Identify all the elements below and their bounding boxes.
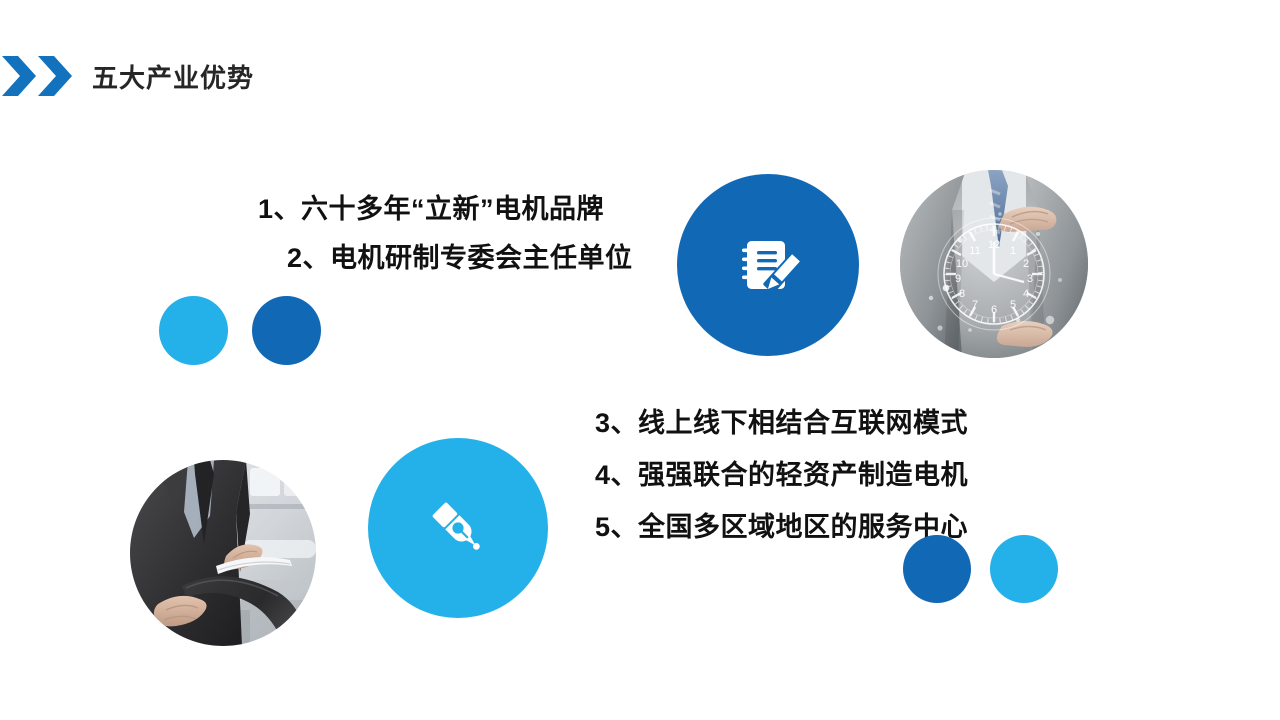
svg-text:1: 1 xyxy=(1010,245,1016,257)
businessman-documents-photo xyxy=(130,460,316,646)
decor-dot-bottom-right-light xyxy=(990,535,1058,603)
list-item: 4、强强联合的轻资产制造电机 xyxy=(595,462,968,489)
svg-text:11: 11 xyxy=(969,245,980,257)
svg-text:5: 5 xyxy=(1010,299,1016,311)
icon-circle-pen-nib xyxy=(368,438,548,618)
slide-canvas: 五大产业优势 1、六十多年“立新”电机品牌 2、电机研制专委会主任单位 3、线上… xyxy=(0,0,1280,720)
svg-text:7: 7 xyxy=(972,299,978,311)
icon-circle-notepad xyxy=(677,174,859,356)
svg-text:4: 4 xyxy=(1023,288,1029,300)
svg-text:10: 10 xyxy=(956,258,968,270)
advantages-list-bottom: 3、线上线下相结合互联网模式 4、强强联合的轻资产制造电机 5、全国多区域地区的… xyxy=(595,410,968,541)
svg-text:9: 9 xyxy=(955,273,961,285)
svg-text:2: 2 xyxy=(1023,258,1029,270)
chevron-right-icon xyxy=(2,56,36,96)
slide-header: 五大产业优势 xyxy=(0,52,254,100)
list-item: 3、线上线下相结合互联网模式 xyxy=(595,410,968,437)
notepad-pencil-icon xyxy=(736,233,800,297)
list-item: 1、六十多年“立新”电机品牌 xyxy=(258,196,633,223)
chevron-arrows-group xyxy=(2,56,78,96)
list-item: 2、电机研制专委会主任单位 xyxy=(287,245,633,272)
photo-content: 12 1 2 3 4 5 6 7 8 9 10 11 xyxy=(900,170,1088,358)
svg-text:3: 3 xyxy=(1027,273,1033,285)
decor-dot-top-left-dark xyxy=(252,296,321,365)
decor-dot-bottom-right-dark xyxy=(903,535,971,603)
page-title: 五大产业优势 xyxy=(92,58,254,95)
svg-text:12: 12 xyxy=(988,239,1000,251)
decor-dot-top-left-light xyxy=(159,296,228,365)
pen-nib-icon xyxy=(427,497,489,559)
businessman-clock-photo: 12 1 2 3 4 5 6 7 8 9 10 11 xyxy=(900,170,1088,358)
list-item: 5、全国多区域地区的服务中心 xyxy=(595,514,968,541)
photo-content xyxy=(130,460,316,646)
advantages-list-top: 1、六十多年“立新”电机品牌 2、电机研制专委会主任单位 xyxy=(258,196,633,272)
svg-text:8: 8 xyxy=(959,288,965,300)
svg-text:6: 6 xyxy=(991,304,997,316)
chevron-right-icon xyxy=(38,56,72,96)
